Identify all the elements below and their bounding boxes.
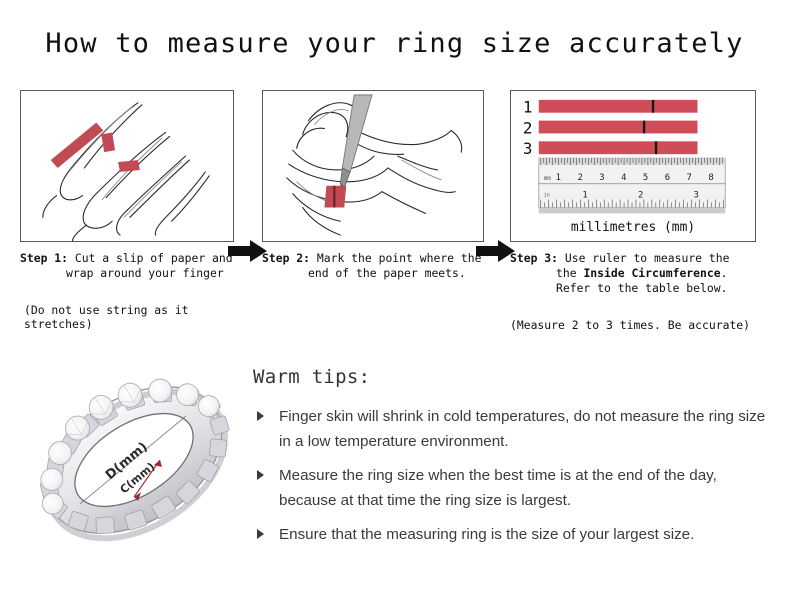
bullet-triangle-icon — [257, 470, 264, 480]
step-1-line2: wrap around your finger — [20, 266, 234, 281]
svg-text:7: 7 — [687, 173, 692, 183]
ruler-caption: millimetres (mm) — [571, 220, 695, 235]
svg-text:3: 3 — [599, 173, 604, 183]
infographic-page: How to measure your ring size accurately — [0, 0, 789, 606]
ring-illustration: D(mm) C(mm) — [18, 352, 250, 572]
step-3-line3: Refer to the table below. — [510, 281, 756, 296]
step-1-line1: Cut a slip of paper and — [75, 251, 233, 265]
warm-tip-text: Ensure that the measuring ring is the si… — [279, 526, 694, 543]
ruler-shape: mm 1 2 3 4 5 6 7 8 in 1 2 — [539, 158, 725, 213]
paper-band-on-finger-shape — [101, 132, 140, 171]
diamond-eternity-ring-icon: D(mm) C(mm) — [18, 352, 250, 572]
step-3-line2: the Inside Circumference. — [510, 266, 756, 281]
warm-tip-text: Measure the ring size when the best time… — [279, 467, 717, 509]
strip-2-label: 2 — [523, 118, 533, 137]
strip-1-label: 1 — [523, 98, 533, 117]
step-1-illustration-panel — [20, 90, 234, 242]
paper-strips-and-ruler-icon: 1 2 3 — [511, 91, 755, 241]
step-1-note: (Do not use string as it stretches) — [20, 303, 234, 331]
arrow-step2-to-step3-icon — [476, 238, 516, 264]
step-2-caption: Step 2: Mark the point where the end of … — [262, 251, 484, 281]
svg-text:8: 8 — [708, 173, 713, 183]
warm-tips-section: Warm tips: Finger skin will shrink in co… — [253, 366, 773, 556]
svg-text:6: 6 — [665, 173, 670, 183]
svg-text:2: 2 — [638, 191, 643, 201]
warm-tip-item: Ensure that the measuring ring is the si… — [253, 522, 773, 547]
step-1: Step 1: Cut a slip of paper and wrap aro… — [20, 90, 234, 331]
step-3-line2-post: . — [721, 266, 728, 280]
svg-text:3: 3 — [694, 191, 699, 201]
svg-text:1: 1 — [582, 191, 587, 201]
warm-tips-heading: Warm tips: — [253, 366, 773, 388]
step-2-line1: Mark the point where the — [317, 251, 482, 265]
step-2-illustration-panel — [262, 90, 484, 242]
step-3-inside-circumference: Inside Circumference — [583, 266, 720, 280]
paper-band-mark-shape — [324, 186, 346, 208]
step-3-caption: Step 3: Use ruler to measure the the Ins… — [510, 251, 756, 296]
hand-with-pencil-marking-icon — [263, 91, 483, 241]
bullet-triangle-icon — [257, 411, 264, 421]
svg-text:mm: mm — [544, 175, 552, 182]
svg-text:in: in — [544, 193, 550, 199]
arrow-step1-to-step2-icon — [228, 238, 268, 264]
svg-text:4: 4 — [621, 173, 626, 183]
step-2: Step 2: Mark the point where the end of … — [262, 90, 484, 281]
warm-tip-item: Measure the ring size when the best time… — [253, 463, 773, 513]
step-2-label: Step 2: — [262, 251, 310, 265]
svg-text:1: 1 — [556, 173, 561, 183]
bullet-triangle-icon — [257, 529, 264, 539]
steps-row: Step 1: Cut a slip of paper and wrap aro… — [0, 90, 789, 340]
strip-3-label: 3 — [523, 139, 533, 158]
step-2-line2: end of the paper meets. — [262, 266, 484, 281]
warm-tip-text: Finger skin will shrink in cold temperat… — [279, 408, 765, 450]
page-title: How to measure your ring size accurately — [0, 28, 789, 59]
step-3-line1: Use ruler to measure the — [565, 251, 730, 265]
step-3-label: Step 3: — [510, 251, 558, 265]
step-1-label: Step 1: — [20, 251, 68, 265]
warm-tip-item: Finger skin will shrink in cold temperat… — [253, 404, 773, 454]
svg-text:2: 2 — [577, 173, 582, 183]
step-1-caption: Step 1: Cut a slip of paper and wrap aro… — [20, 251, 234, 281]
step-3-note: (Measure 2 to 3 times. Be accurate) — [510, 318, 756, 332]
svg-text:5: 5 — [643, 173, 648, 183]
step-3-illustration-panel: 1 2 3 — [510, 90, 756, 242]
step-3-line2-pre: the — [556, 266, 583, 280]
step-3: 1 2 3 — [510, 90, 756, 332]
hand-with-paper-strip-icon — [21, 91, 233, 241]
